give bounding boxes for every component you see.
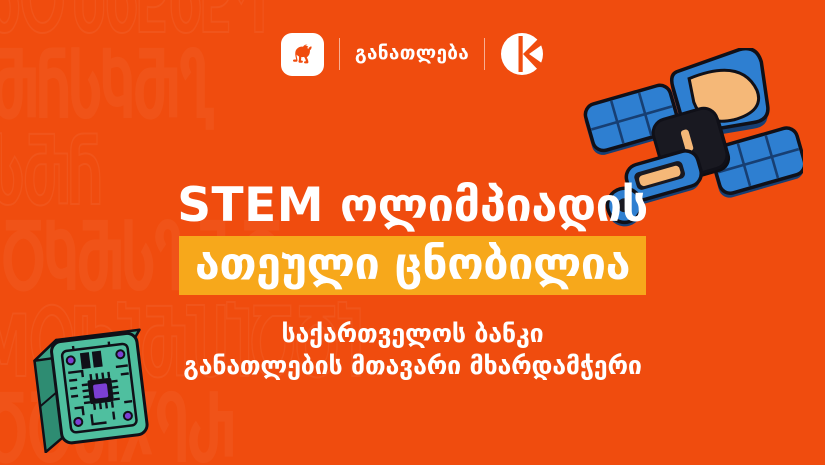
headline-block: STEM ოლიმპიადის ათეული ცნობილია xyxy=(0,182,825,295)
headline-highlight-line: ათეული ცნობილია xyxy=(179,236,646,295)
headline-line-1: STEM ოლიმპიადის xyxy=(0,182,825,230)
subtitle-line-2: განათლების მთავარი მხარდამჭერი xyxy=(0,350,825,382)
bank-of-georgia-logo xyxy=(281,33,324,76)
k-circle-icon xyxy=(500,32,544,76)
lion-icon xyxy=(286,38,318,70)
headline-latin: STEM xyxy=(177,178,324,233)
subtitle-block: საქართველოს ბანკი განათლების მთავარი მხა… xyxy=(0,318,825,382)
subtitle-line-1: საქართველოს ბანკი xyxy=(0,318,825,350)
logo-divider-2 xyxy=(484,38,485,70)
logo-divider-1 xyxy=(339,38,340,70)
headline-georgian: ოლიმპიადის xyxy=(340,178,648,233)
partner-k-logo xyxy=(500,32,544,76)
education-label: განათლება xyxy=(355,44,469,65)
logo-lockup: განათლება xyxy=(0,32,825,76)
stem-olympiad-banner: ႰႱႠႮႱႾႱႲႤ ႫႪႤႫႬႱႩႫႢ ႨႫႤႫႨႲႱႫႬ ႫႠႣႩႫႱႥႫႣ … xyxy=(0,0,825,465)
